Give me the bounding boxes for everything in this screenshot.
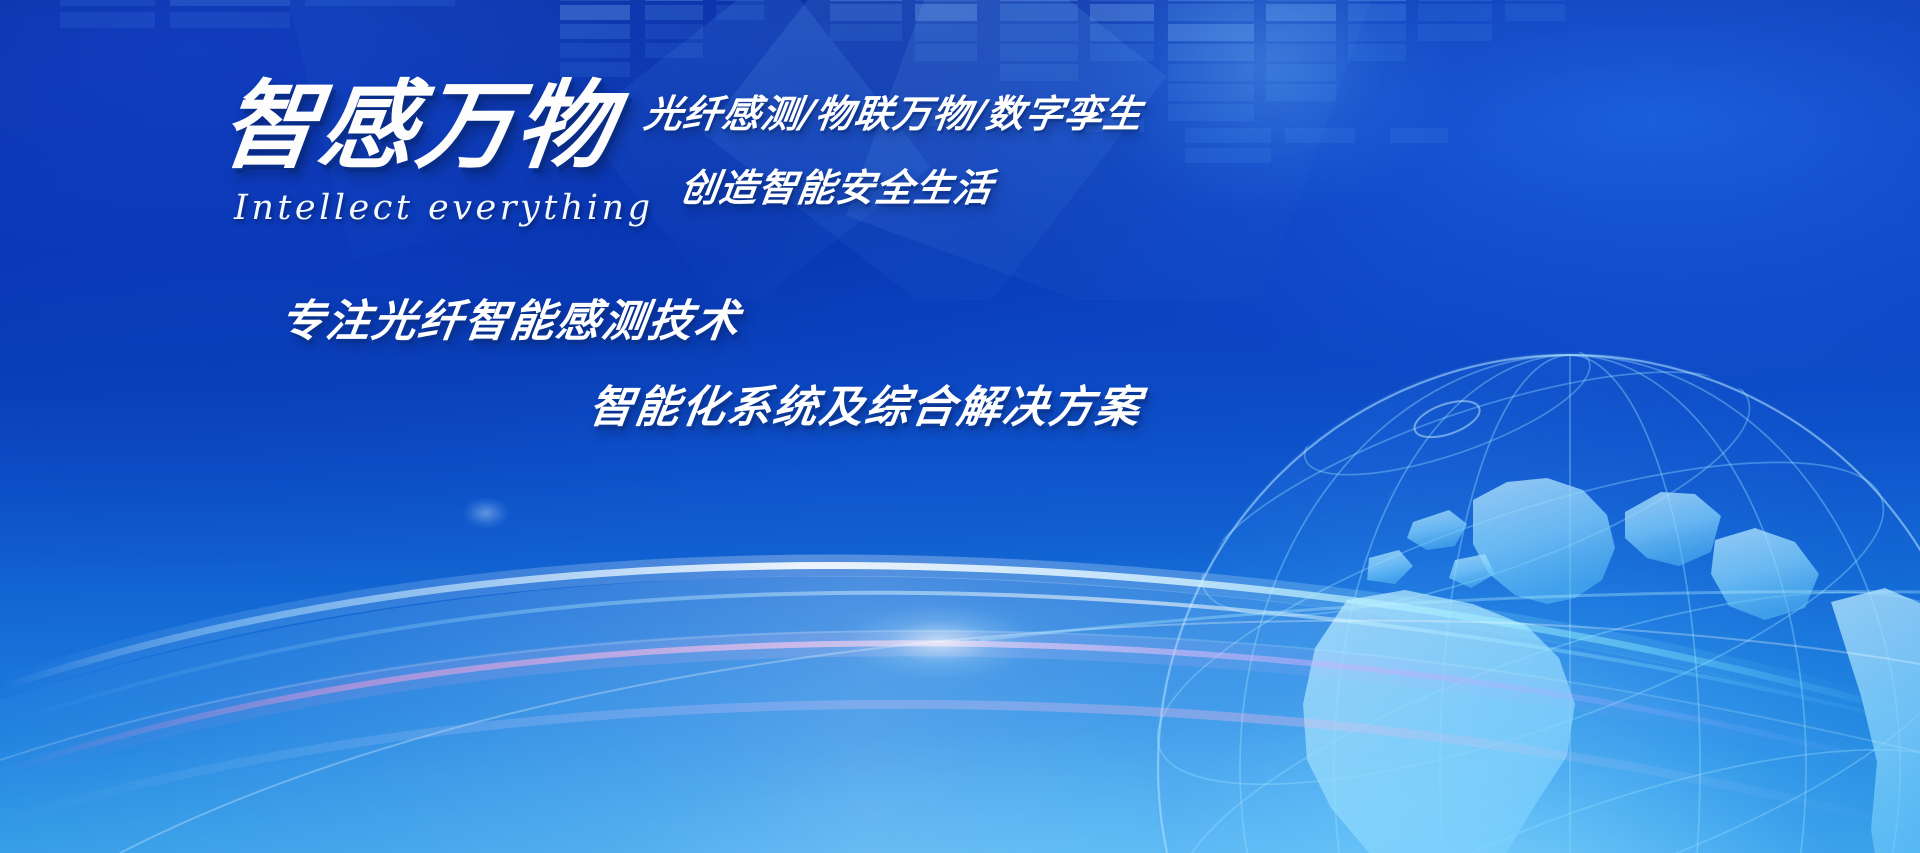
hero-banner: 智感万物 Intellect everything 光纤感测/物联万物/数字孪生…	[0, 0, 1920, 853]
tagline-line-1: 光纤感测/物联万物/数字孪生	[641, 83, 1146, 138]
slogan-block: 专注光纤智能感测技术 智能化系统及综合解决方案	[281, 285, 1142, 435]
slogan-line-1: 专注光纤智能感测技术	[277, 285, 1147, 349]
lens-flare-icon	[455, 492, 517, 534]
page-title: 智感万物	[216, 78, 648, 174]
bottom-haze	[0, 553, 1920, 853]
headline-block: 智感万物 Intellect everything	[222, 78, 642, 228]
tagline-line-2: 创造智能安全生活	[677, 157, 1146, 212]
tagline-block: 光纤感测/物联万物/数字孪生 创造智能安全生活	[645, 83, 1143, 212]
slogan-line-2: 智能化系统及综合解决方案	[586, 371, 1147, 435]
page-subtitle-english: Intellect everything	[234, 188, 642, 228]
